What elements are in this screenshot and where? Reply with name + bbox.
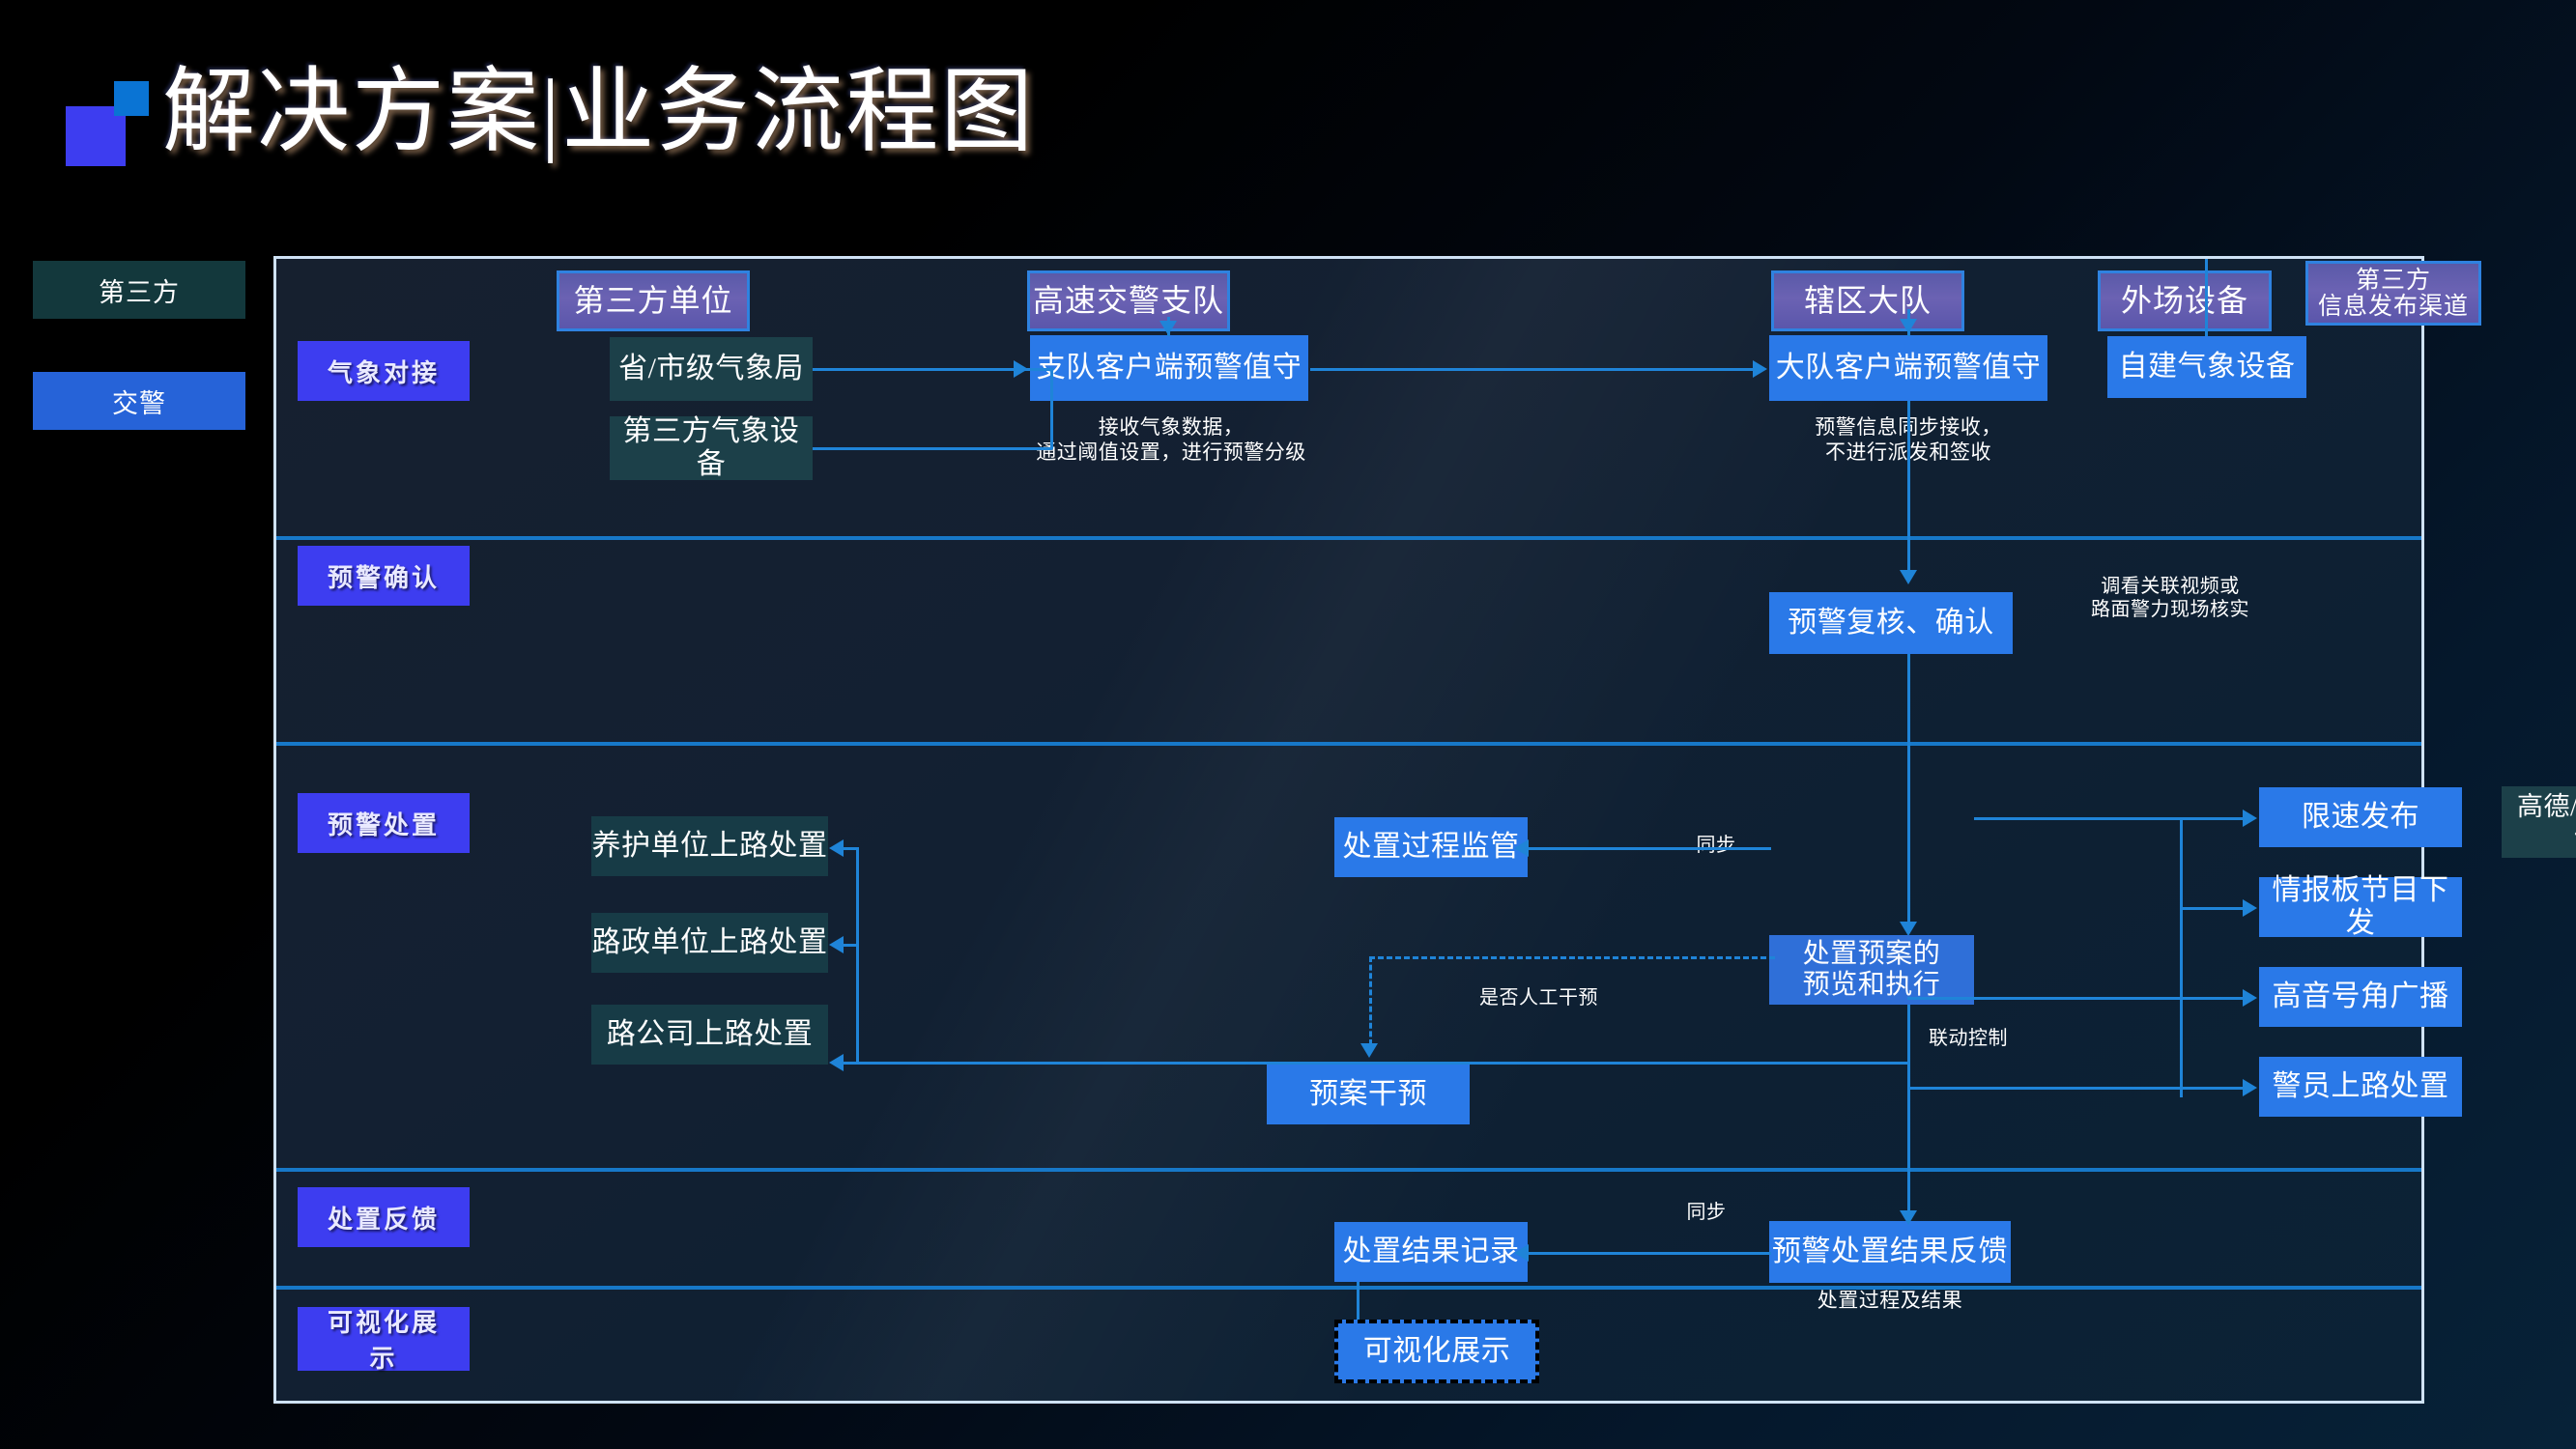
- node-officer-road-dispatch[interactable]: 警员上路处置: [2259, 1057, 2462, 1117]
- node-label: 省/市级气象局: [618, 353, 804, 385]
- stage-label-text: 可视化展示: [315, 1303, 452, 1375]
- node-road-company-dispatch[interactable]: 路公司上路处置: [591, 1005, 828, 1065]
- stage-label-alarm-handling[interactable]: 预警处置: [298, 793, 470, 853]
- caption-result-feedback: 处置过程及结果: [1769, 1289, 2011, 1314]
- caption-brigade-client: 接收气象数据， 通过阈值设置，进行预警分级: [968, 415, 1374, 465]
- caption-line-2: 通过阈值设置，进行预警分级: [968, 440, 1374, 466]
- node-label: 自建气象设备: [2119, 351, 2296, 384]
- edge-left-fan-2: [843, 944, 858, 947]
- arrow-to-alarm-review: [1900, 570, 1917, 584]
- edge-review-to-plan: [1907, 654, 1910, 929]
- node-nav-platform-release[interactable]: 高德/百度导航平台 信息发布: [2502, 786, 2576, 858]
- stage-label-handling-feedback[interactable]: 处置反馈: [298, 1187, 470, 1247]
- edge-squad-to-review: [1907, 401, 1910, 577]
- flowchart-panel: 第三方单位 高速交警支队 辖区大队 外场设备 第三方 信息发布渠道 气象对接 预…: [273, 256, 2424, 1404]
- edge-plan-dashed-v: [1369, 956, 1372, 1045]
- edge-to-board-program: [2180, 907, 2246, 910]
- node-label: 养护单位上路处置: [592, 830, 828, 863]
- node-label: 预警处置结果反馈: [1772, 1236, 2008, 1268]
- column-header-label: 辖区大队: [1804, 284, 1932, 318]
- annotation-alarm-review: 调看关联视频或 路面警力现场核实: [2035, 575, 2305, 621]
- stage-label-text: 处置反馈: [328, 1200, 440, 1236]
- node-label: 第三方气象设备: [610, 415, 813, 481]
- node-third-party-weather-device[interactable]: 第三方气象设备: [610, 416, 813, 480]
- arrow-to-road-company: [829, 1054, 844, 1071]
- row-divider-3: [276, 1168, 2421, 1172]
- arrow-to-maintenance-unit: [829, 839, 844, 857]
- edge-to-speed-limit: [2180, 817, 2246, 820]
- brand-square-small-icon: [114, 81, 149, 116]
- column-header-third-party-release-channel[interactable]: 第三方 信息发布渠道: [2305, 261, 2481, 326]
- row-divider-4: [276, 1286, 2421, 1290]
- edge-label-sync-1: 同步: [1673, 834, 1760, 857]
- edge-field-device-down: [2205, 259, 2208, 336]
- edge-right-fan-spine: [2180, 817, 2183, 1097]
- arrow-to-board-program: [2243, 899, 2257, 917]
- node-provincial-weather-bureau[interactable]: 省/市级气象局: [610, 337, 813, 401]
- node-label: 警员上路处置: [2273, 1070, 2449, 1103]
- edge-join-vertical: [1050, 368, 1053, 449]
- edge-left-fan-1: [843, 847, 858, 850]
- arrow-to-brigade-client: [1014, 360, 1028, 378]
- column-header-district-squad[interactable]: 辖区大队: [1771, 270, 1964, 331]
- edge-plan-to-rightfan: [1974, 817, 2182, 820]
- stage-label-weather-integration[interactable]: 气象对接: [298, 341, 470, 401]
- node-maintenance-unit-dispatch[interactable]: 养护单位上路处置: [591, 816, 828, 876]
- arrow-to-result-feedback: [1900, 1210, 1917, 1225]
- legend-label-traffic-police: 交警: [112, 383, 166, 420]
- arrow-to-result-record: [1514, 1244, 1529, 1262]
- arrow-to-road-admin-unit: [829, 936, 844, 953]
- node-label: 情报板节目下发: [2259, 874, 2462, 940]
- node-label: 处置结果记录: [1343, 1236, 1520, 1268]
- edge-plan-dashed-h: [1369, 956, 1775, 959]
- node-label: 可视化展示: [1363, 1335, 1511, 1368]
- node-label: 限速发布: [2302, 801, 2419, 834]
- node-process-supervision[interactable]: 处置过程监管: [1334, 817, 1528, 877]
- node-visualization-display[interactable]: 可视化展示: [1334, 1320, 1539, 1383]
- arrow-to-squad-client: [1753, 360, 1767, 378]
- arrow-squad-top: [1900, 319, 1917, 333]
- row-divider-2: [276, 742, 2421, 746]
- stage-label-text: 气象对接: [328, 354, 440, 389]
- node-plan-preview-execute[interactable]: 处置预案的 预览和执行: [1769, 935, 1974, 1005]
- arrow-to-horn: [2243, 989, 2257, 1007]
- edge-feedback-to-record: [1528, 1252, 1771, 1255]
- node-label: 处置过程监管: [1343, 831, 1520, 864]
- edge-brigade-to-squad: [1310, 368, 1755, 371]
- annotation-line-2: 路面警力现场核实: [2035, 598, 2305, 621]
- stage-label-visualization[interactable]: 可视化展示: [298, 1307, 470, 1371]
- node-label: 路公司上路处置: [607, 1018, 814, 1051]
- stage-label-alarm-confirm[interactable]: 预警确认: [298, 546, 470, 606]
- edge-to-officer: [1907, 1087, 2246, 1090]
- column-header-label-line2: 信息发布渠道: [2318, 294, 2469, 320]
- annotation-line-1: 调看关联视频或: [2035, 575, 2305, 598]
- node-alarm-result-feedback[interactable]: 预警处置结果反馈: [1769, 1221, 2011, 1283]
- node-alarm-review-confirm[interactable]: 预警复核、确认: [1769, 592, 2013, 654]
- node-handling-result-record[interactable]: 处置结果记录: [1334, 1222, 1528, 1282]
- arrow-to-plan-intervention: [1360, 1043, 1378, 1058]
- edge-label-manual-intervention: 是否人工干预: [1479, 986, 1653, 1009]
- arrow-to-officer: [2243, 1079, 2257, 1096]
- edge-label-linkage-control: 联动控制: [1929, 1027, 2054, 1050]
- node-self-built-weather-device[interactable]: 自建气象设备: [2107, 336, 2306, 398]
- column-header-label: 外场设备: [2121, 284, 2248, 318]
- edge-device-to-join: [813, 447, 1052, 450]
- node-label: 大队客户端预警值守: [1776, 352, 2042, 384]
- node-brigade-client-alarm-duty[interactable]: 支队客户端预警值守: [1030, 335, 1308, 401]
- row-divider-1: [276, 536, 2421, 540]
- node-label: 路政单位上路处置: [592, 926, 828, 959]
- edge-plan-to-supervision: [1528, 847, 1771, 850]
- legend-label-third-party: 第三方: [99, 271, 180, 309]
- node-speed-limit-release[interactable]: 限速发布: [2259, 787, 2462, 847]
- column-header-field-equipment[interactable]: 外场设备: [2098, 270, 2272, 331]
- node-label: 预警复核、确认: [1788, 607, 1994, 639]
- node-label-line-1: 处置预案的: [1803, 939, 1941, 970]
- node-label: 高音号角广播: [2273, 980, 2449, 1013]
- stage-label-text: 预警处置: [328, 806, 440, 841]
- edge-label-sync-2: 同步: [1663, 1201, 1750, 1224]
- edge-left-fan-3: [843, 1062, 1910, 1065]
- column-header-highway-police-brigade[interactable]: 高速交警支队: [1027, 270, 1230, 331]
- legend-item-third-party: 第三方: [33, 261, 245, 319]
- node-road-admin-unit-dispatch[interactable]: 路政单位上路处置: [591, 913, 828, 973]
- node-squad-client-alarm-duty[interactable]: 大队客户端预警值守: [1769, 335, 2047, 401]
- column-header-label-line1: 第三方: [2356, 268, 2431, 294]
- column-header-label: 第三方单位: [573, 284, 732, 318]
- edge-left-fan-spine: [856, 847, 859, 1065]
- caption-line-1: 接收气象数据，: [968, 415, 1374, 440]
- node-label: 预案干预: [1309, 1078, 1427, 1111]
- stage-label-text: 预警确认: [328, 558, 440, 594]
- node-horn-broadcast[interactable]: 高音号角广播: [2259, 967, 2462, 1027]
- edge-to-horn: [1907, 997, 2246, 1000]
- column-header-third-party-unit[interactable]: 第三方单位: [557, 270, 750, 331]
- node-plan-intervention[interactable]: 预案干预: [1267, 1065, 1470, 1124]
- node-label-line-1: 高德/百度导航平台: [2517, 792, 2576, 822]
- legend-item-traffic-police: 交警: [33, 372, 245, 430]
- column-header-label: 高速交警支队: [1033, 284, 1224, 318]
- arrow-to-plan-preview: [1900, 922, 1917, 936]
- page-title: 解决方案|业务流程图: [162, 60, 1035, 164]
- arrow-to-speed-limit: [2243, 810, 2257, 827]
- arrow-brigade-top: [1159, 321, 1177, 335]
- arrow-to-process-supervision: [1514, 839, 1529, 857]
- node-label: 支队客户端预警值守: [1037, 352, 1302, 384]
- node-board-program-release[interactable]: 情报板节目下发: [2259, 877, 2462, 937]
- slide-canvas: 解决方案|业务流程图 第三方 交警 第三方单位 高速交警支队 辖区大队 外场设备…: [0, 0, 2576, 1449]
